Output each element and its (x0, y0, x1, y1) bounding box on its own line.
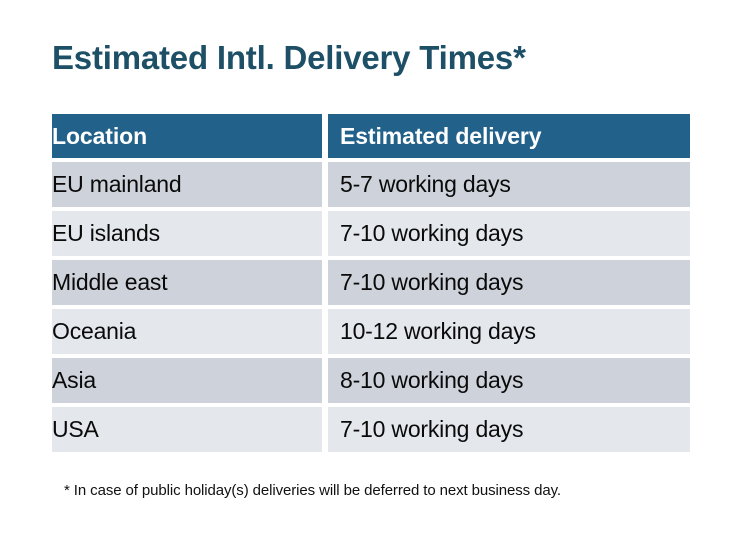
column-header-location: Location (52, 114, 322, 158)
cell-location: USA (52, 407, 322, 452)
table-header: Location Estimated delivery (52, 114, 690, 158)
cell-delivery: 8-10 working days (328, 358, 690, 403)
cell-delivery: 7-10 working days (328, 211, 690, 256)
cell-delivery: 7-10 working days (328, 260, 690, 305)
cell-location: Asia (52, 358, 322, 403)
footnote: * In case of public holiday(s) deliverie… (64, 481, 561, 501)
page-title: Estimated Intl. Delivery Times* (52, 36, 526, 80)
table-body: EU mainland 5-7 working days EU islands … (52, 158, 690, 452)
column-header-estimated-delivery: Estimated delivery (328, 114, 690, 158)
table-row: EU mainland 5-7 working days (52, 162, 690, 207)
delivery-times-page: Estimated Intl. Delivery Times* Location… (0, 0, 745, 536)
cell-location: Oceania (52, 309, 322, 354)
cell-location: Middle east (52, 260, 322, 305)
cell-delivery: 7-10 working days (328, 407, 690, 452)
cell-delivery: 10-12 working days (328, 309, 690, 354)
table-row: Asia 8-10 working days (52, 358, 690, 403)
table-header-row: Location Estimated delivery (52, 114, 690, 158)
cell-location: EU islands (52, 211, 322, 256)
table-row: EU islands 7-10 working days (52, 211, 690, 256)
delivery-times-table: Location Estimated delivery EU mainland … (52, 114, 690, 452)
table-row: Oceania 10-12 working days (52, 309, 690, 354)
cell-delivery: 5-7 working days (328, 162, 690, 207)
table-row: USA 7-10 working days (52, 407, 690, 452)
table-row: Middle east 7-10 working days (52, 260, 690, 305)
cell-location: EU mainland (52, 162, 322, 207)
